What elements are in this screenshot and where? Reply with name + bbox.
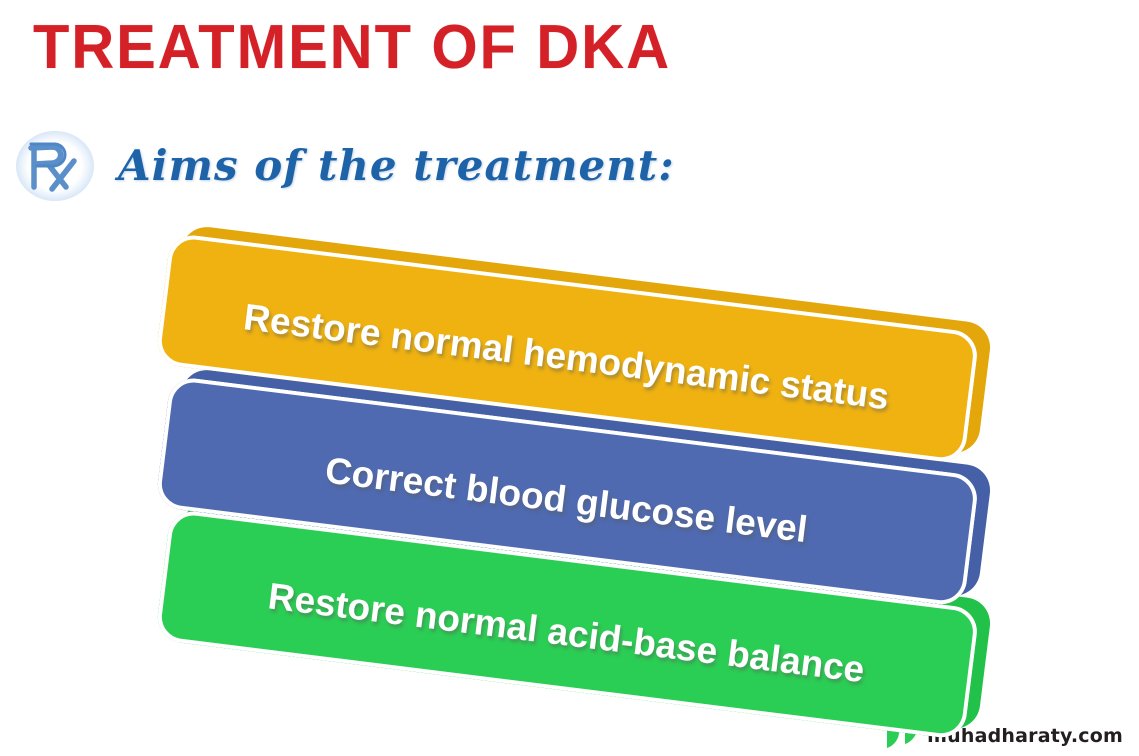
aims-banner-stack: Restore normal hemodynamic status Correc… [0,0,1139,756]
slide-canvas: TREATMENT OF DKA Aims of the treatment: … [0,0,1139,756]
